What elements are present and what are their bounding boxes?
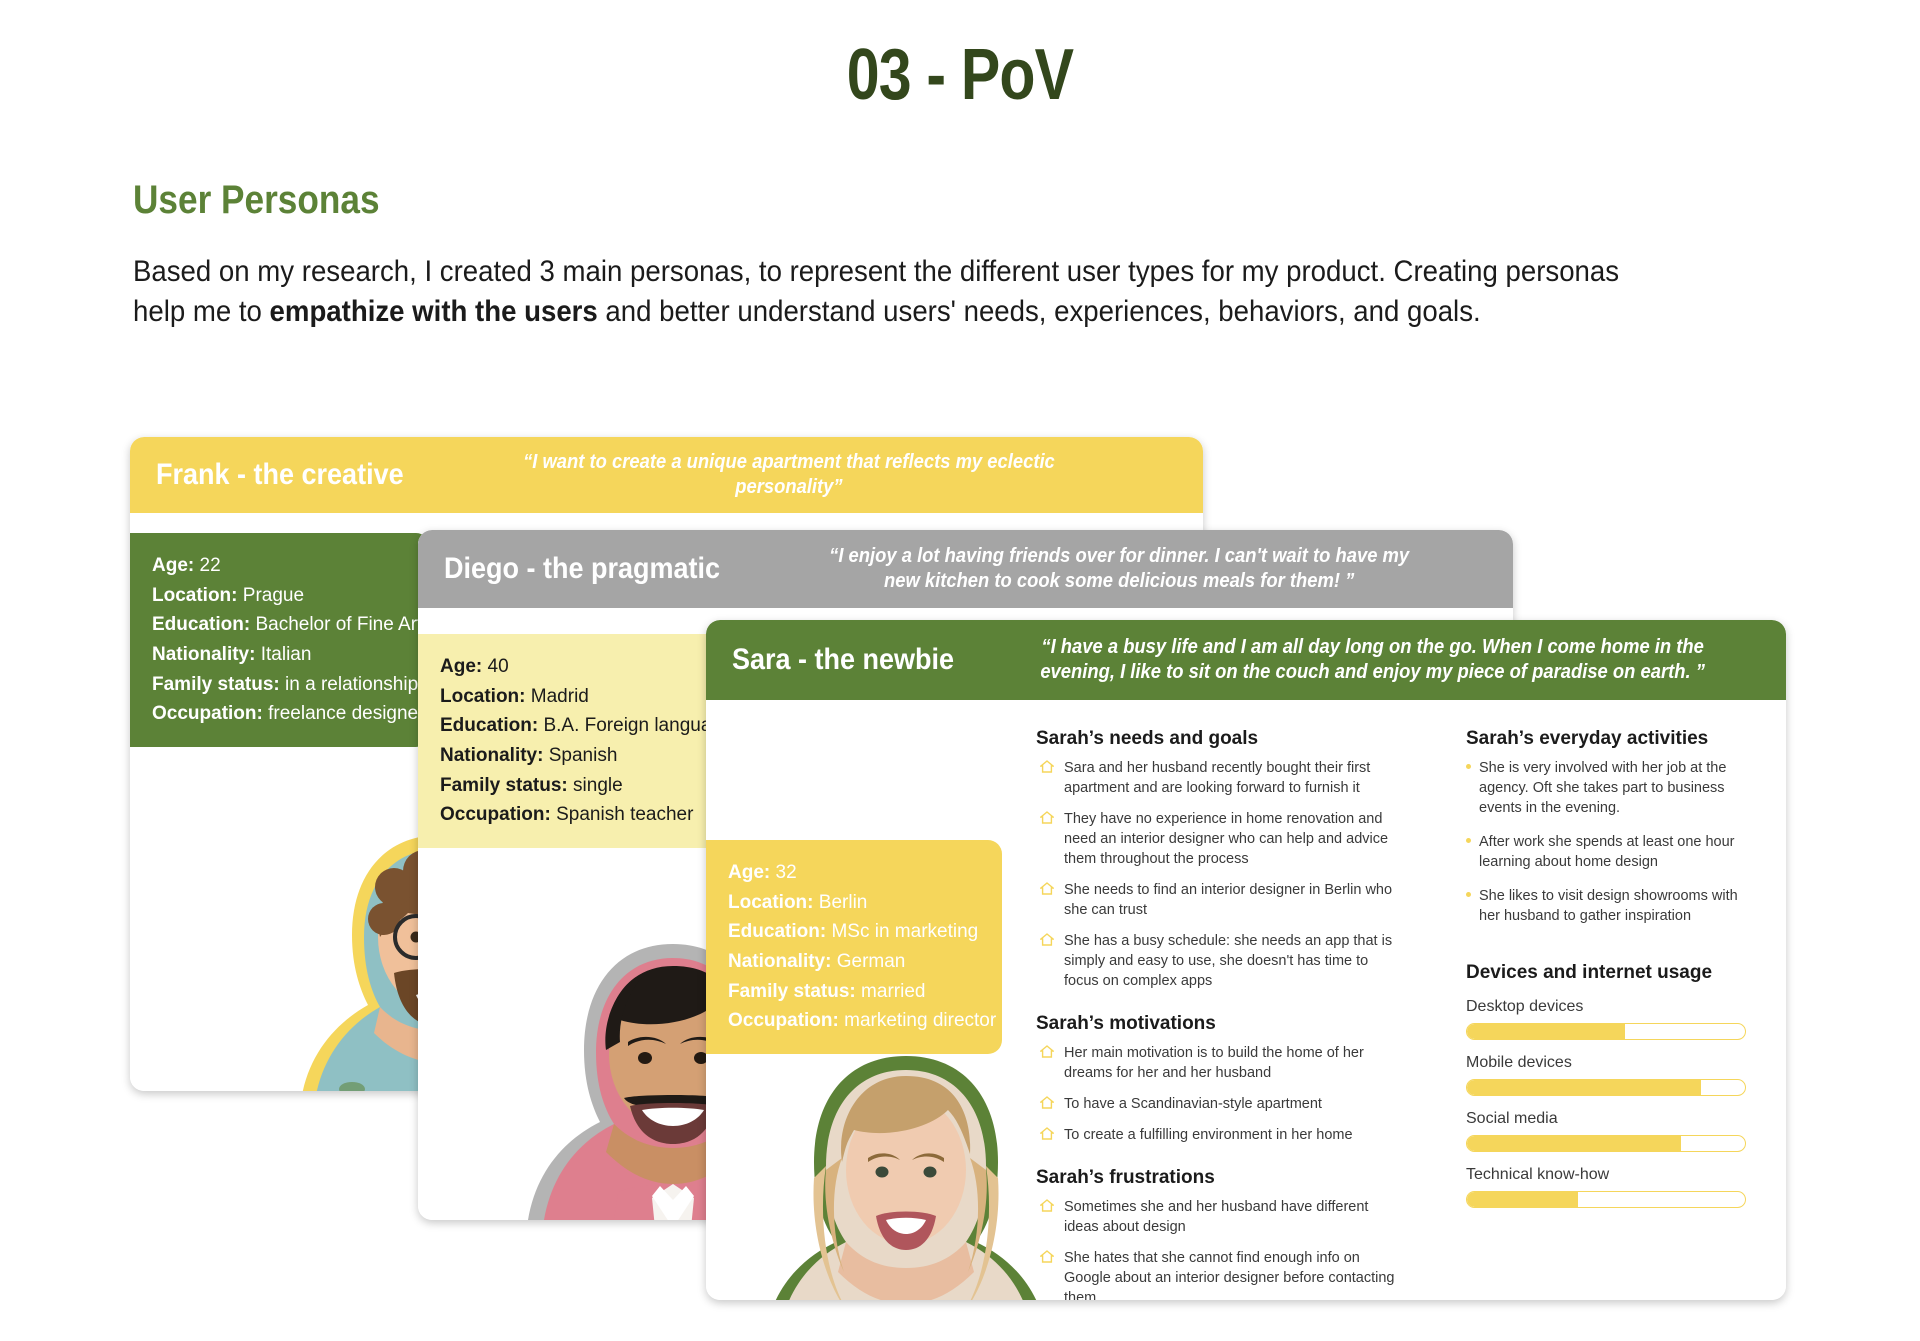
needs-list: Sara and her husband recently bought the… <box>1036 758 1406 991</box>
list-item: Sometimes she and her husband have diffe… <box>1036 1197 1406 1237</box>
list-item: To have a Scandinavian-style apartment <box>1036 1094 1406 1114</box>
detail-key: Family status: <box>440 775 568 796</box>
house-icon <box>1040 1126 1054 1139</box>
list-item: She hates that she cannot find enough in… <box>1036 1248 1406 1300</box>
section-title: User Personas <box>133 178 380 223</box>
detail-value: 40 <box>488 656 509 677</box>
list-item: To create a fulfilling environment in he… <box>1036 1125 1406 1145</box>
detail-row: Nationality: Spanish <box>440 741 706 771</box>
detail-row: Occupation: marketing director <box>728 1006 980 1036</box>
list-item-text: They have no experience in home renovati… <box>1064 811 1388 867</box>
device-label: Desktop devices <box>1466 998 1746 1016</box>
intro-text-part2: and better understand users' needs, expe… <box>598 295 1481 328</box>
detail-key: Occupation: <box>440 804 551 825</box>
detail-value: 22 <box>200 555 221 576</box>
needs-title: Sarah’s needs and goals <box>1036 728 1406 750</box>
detail-row: Age: 22 <box>152 551 408 581</box>
devices-title: Devices and internet usage <box>1466 962 1746 984</box>
persona-name-frank: Frank - the creative <box>156 458 404 492</box>
device-meter-mobile: Mobile devices <box>1466 1054 1746 1096</box>
sara-column-needs: Sarah’s needs and goals Sara and her hus… <box>1036 728 1406 1300</box>
list-item: She needs to find an interior designer i… <box>1036 880 1406 920</box>
persona-quote-diego: “I enjoy a lot having friends over for d… <box>817 544 1421 594</box>
detail-key: Location: <box>728 892 814 913</box>
detail-value: single <box>573 775 623 796</box>
list-item-text: She needs to find an interior designer i… <box>1064 882 1392 918</box>
list-item: After work she spends at least one hour … <box>1466 832 1746 872</box>
house-icon <box>1040 1198 1054 1211</box>
detail-value: Prague <box>243 585 304 606</box>
progress-track <box>1466 1135 1746 1152</box>
detail-key: Nationality: <box>728 951 831 972</box>
sara-portrait-illustration <box>756 1050 1056 1300</box>
activities-list: She is very involved with her job at the… <box>1466 758 1746 926</box>
detail-row: Education: Bachelor of Fine Arts <box>152 610 408 640</box>
persona-quote-frank: “I want to create a unique apartment tha… <box>515 450 1063 500</box>
list-item-text: To have a Scandinavian-style apartment <box>1064 1096 1322 1112</box>
list-item: She is very involved with her job at the… <box>1466 758 1746 818</box>
progress-track <box>1466 1023 1746 1040</box>
device-label: Mobile devices <box>1466 1054 1746 1072</box>
detail-value: Bachelor of Fine Arts <box>255 614 431 635</box>
detail-value: Berlin <box>819 892 868 913</box>
detail-key: Location: <box>440 686 526 707</box>
list-item-text: Sara and her husband recently bought the… <box>1064 760 1370 796</box>
frustrations-title: Sarah’s frustrations <box>1036 1167 1406 1189</box>
detail-value: MSc in marketing <box>831 921 978 942</box>
detail-value: marketing director <box>844 1010 996 1031</box>
detail-value: Italian <box>261 644 312 665</box>
detail-row: Nationality: Italian <box>152 640 408 670</box>
persona-body-sara: Age: 32 Location: Berlin Education: MSc … <box>706 700 1786 1300</box>
progress-fill <box>1467 1192 1578 1207</box>
detail-key: Age: <box>728 862 770 883</box>
sara-column-activities: Sarah’s everyday activities She is very … <box>1466 728 1746 1208</box>
detail-row: Occupation: freelance designer <box>152 699 408 729</box>
detail-key: Occupation: <box>152 703 263 724</box>
progress-track <box>1466 1079 1746 1096</box>
list-item: She likes to visit design showrooms with… <box>1466 886 1746 926</box>
detail-key: Education: <box>152 614 250 635</box>
persona-quote-sara: “I have a busy life and I am all day lon… <box>1038 635 1707 685</box>
progress-fill <box>1467 1080 1701 1095</box>
detail-key: Education: <box>728 921 826 942</box>
detail-row: Family status: in a relationship <box>152 670 408 700</box>
list-item-text: Her main motivation is to build the home… <box>1064 1045 1364 1081</box>
persona-photo-sara <box>756 1050 1056 1300</box>
detail-row: Nationality: German <box>728 947 980 977</box>
detail-row: Family status: single <box>440 771 706 801</box>
device-label: Technical know-how <box>1466 1166 1746 1184</box>
house-icon <box>1040 1249 1054 1262</box>
progress-fill <box>1467 1136 1681 1151</box>
detail-row: Location: Madrid <box>440 682 706 712</box>
house-icon <box>1040 881 1054 894</box>
device-label: Social media <box>1466 1110 1746 1128</box>
list-item: Her main motivation is to build the home… <box>1036 1043 1406 1083</box>
activities-title: Sarah’s everyday activities <box>1466 728 1746 750</box>
intro-text-bold: empathize with the users <box>270 295 598 328</box>
detail-value: Spanish teacher <box>556 804 693 825</box>
slide-root: 03 - PoV User Personas Based on my resea… <box>0 0 1920 1341</box>
detail-row: Family status: married <box>728 977 980 1007</box>
detail-value: Madrid <box>531 686 589 707</box>
detail-key: Age: <box>440 656 482 677</box>
detail-value: German <box>837 951 906 972</box>
persona-details-frank: Age: 22 Location: Prague Education: Bach… <box>130 533 430 747</box>
detail-row: Age: 40 <box>440 652 706 682</box>
persona-card-sara[interactable]: Sara - the newbie “I have a busy life an… <box>706 620 1786 1300</box>
detail-row: Education: B.A. Foreign languages <box>440 711 706 741</box>
page-title: 03 - PoV <box>173 34 1747 116</box>
detail-row: Location: Prague <box>152 581 408 611</box>
detail-value: in a relationship <box>285 674 418 695</box>
motivations-title: Sarah’s motivations <box>1036 1013 1406 1035</box>
persona-header-diego: Diego - the pragmatic “I enjoy a lot hav… <box>418 530 1513 608</box>
detail-key: Family status: <box>728 981 856 1002</box>
detail-key: Occupation: <box>728 1010 839 1031</box>
persona-details-diego: Age: 40 Location: Madrid Education: B.A.… <box>418 634 728 848</box>
house-icon <box>1040 759 1054 772</box>
list-item: She has a busy schedule: she needs an ap… <box>1036 931 1406 991</box>
detail-value: Spanish <box>549 745 618 766</box>
frustrations-list: Sometimes she and her husband have diffe… <box>1036 1197 1406 1300</box>
detail-row: Education: MSc in marketing <box>728 917 980 947</box>
house-icon <box>1040 1044 1054 1057</box>
list-item-text: Sometimes she and her husband have diffe… <box>1064 1199 1368 1235</box>
detail-key: Family status: <box>152 674 280 695</box>
device-meter-technical: Technical know-how <box>1466 1166 1746 1208</box>
detail-key: Age: <box>152 555 194 576</box>
persona-details-sara: Age: 32 Location: Berlin Education: MSc … <box>706 840 1002 1054</box>
detail-row: Occupation: Spanish teacher <box>440 800 706 830</box>
list-item: Sara and her husband recently bought the… <box>1036 758 1406 798</box>
detail-row: Age: 32 <box>728 858 980 888</box>
detail-value: 32 <box>776 862 797 883</box>
persona-header-sara: Sara - the newbie “I have a busy life an… <box>706 620 1786 700</box>
list-item: They have no experience in home renovati… <box>1036 809 1406 869</box>
device-meter-social: Social media <box>1466 1110 1746 1152</box>
progress-fill <box>1467 1024 1625 1039</box>
motivations-list: Her main motivation is to build the home… <box>1036 1043 1406 1145</box>
detail-key: Location: <box>152 585 238 606</box>
device-meter-desktop: Desktop devices <box>1466 998 1746 1040</box>
detail-row: Location: Berlin <box>728 888 980 918</box>
detail-key: Nationality: <box>152 644 255 665</box>
list-item-text: She hates that she cannot find enough in… <box>1064 1250 1395 1300</box>
persona-name-sara: Sara - the newbie <box>732 643 954 677</box>
progress-track <box>1466 1191 1746 1208</box>
persona-name-diego: Diego - the pragmatic <box>444 552 720 586</box>
detail-key: Education: <box>440 715 538 736</box>
detail-key: Nationality: <box>440 745 543 766</box>
list-item-text: She has a busy schedule: she needs an ap… <box>1064 933 1392 989</box>
list-item-text: To create a fulfilling environment in he… <box>1064 1127 1353 1143</box>
house-icon <box>1040 1095 1054 1108</box>
persona-header-frank: Frank - the creative “I want to create a… <box>130 437 1203 513</box>
house-icon <box>1040 932 1054 945</box>
detail-value: freelance designer <box>268 703 424 724</box>
house-icon <box>1040 810 1054 823</box>
intro-paragraph: Based on my research, I created 3 main p… <box>133 252 1679 331</box>
detail-value: married <box>861 981 925 1002</box>
